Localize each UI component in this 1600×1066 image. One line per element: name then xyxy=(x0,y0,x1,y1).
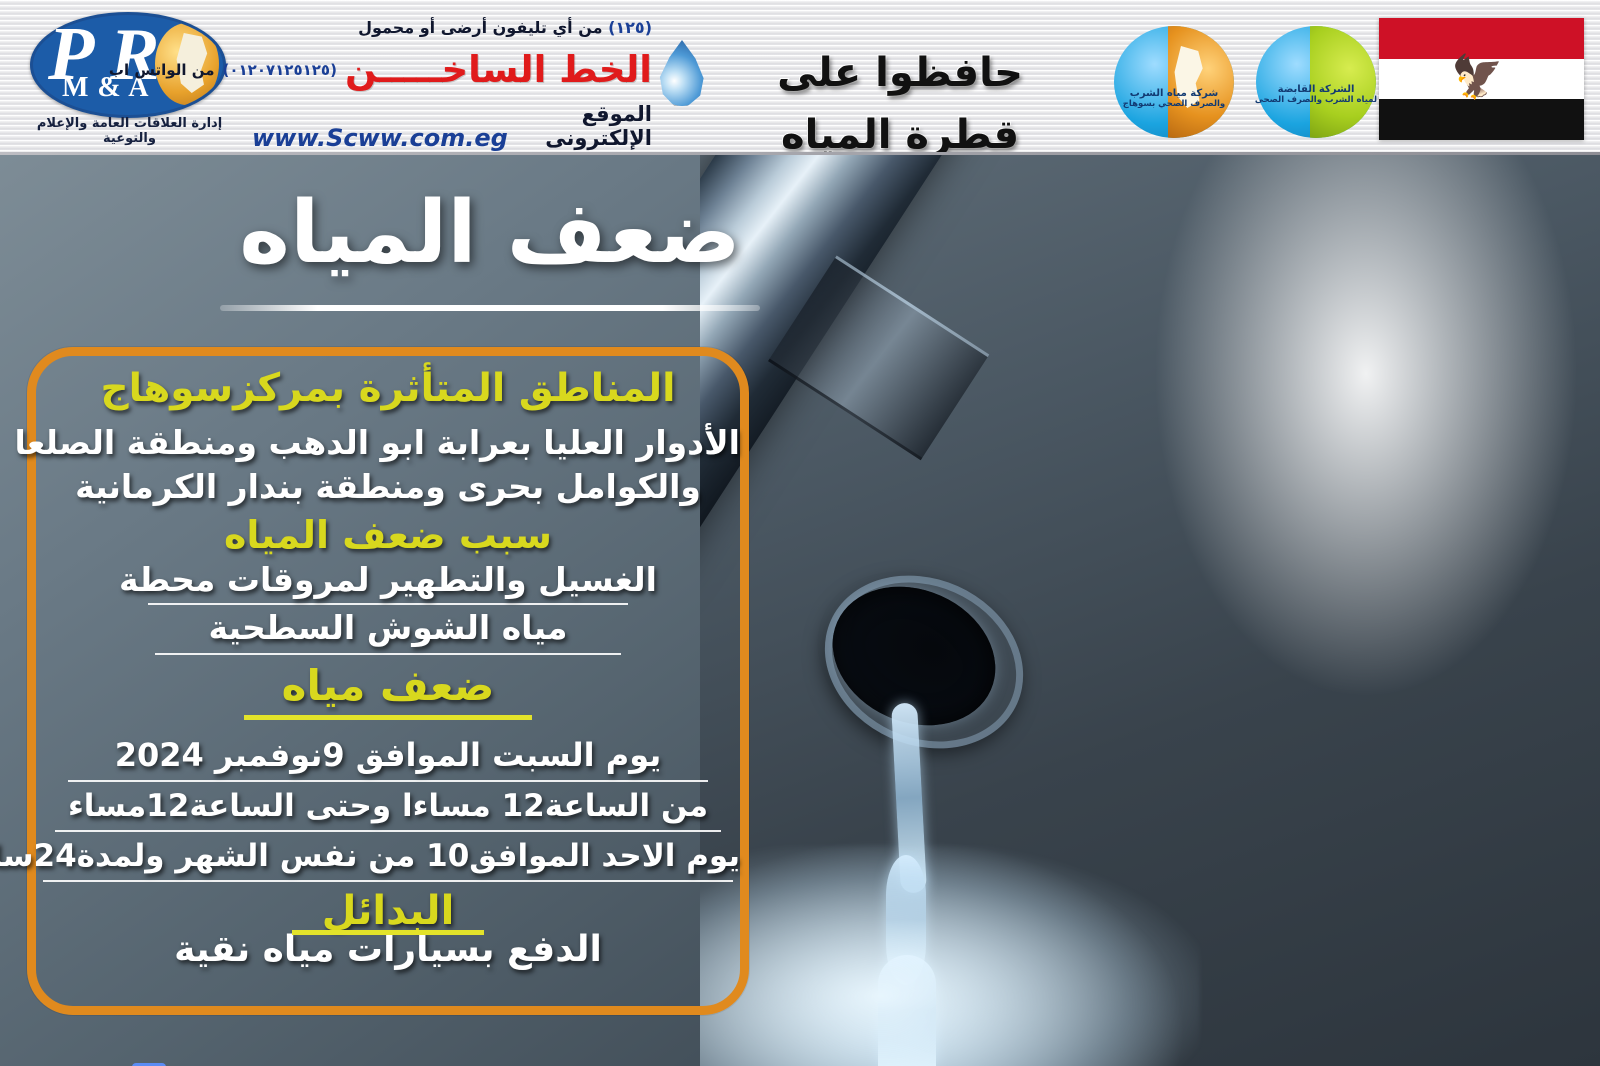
hotline-info-block: (١٢٥) من أي تليفون أرضى أو محمول الخط ال… xyxy=(252,14,652,142)
holding-logo-globe xyxy=(1256,26,1376,138)
hotline-landline-label: من أي تليفون أرضى أو محمول xyxy=(358,18,602,37)
schedule-line-3: يوم الاحد الموافق10 من نفس الشهر ولمدة24… xyxy=(36,834,740,878)
title-underline-divider xyxy=(220,305,760,311)
divider-1 xyxy=(148,603,628,605)
hotline-whatsapp-label: من الواتس اب xyxy=(109,61,215,79)
affected-areas-line-1: الأدوار العليا بعرابة ابو الدهب ومنطقة ا… xyxy=(36,421,740,465)
eagle-of-saladin-icon: 🦅 xyxy=(1460,56,1504,102)
egypt-flag-icon: 🦅 xyxy=(1379,18,1584,140)
holding-company-logo: الشركة القابضة لمياه الشرب والصرف الصحى xyxy=(1250,22,1382,140)
hotline-title-label: الخط الساخـــــن xyxy=(345,50,652,90)
info-panel-content: المناطق المتأثرة بمركزسوهاج الأدوار العل… xyxy=(36,361,740,1021)
page-title: ضعف المياه xyxy=(140,173,840,293)
divider-3 xyxy=(68,780,708,782)
reason-line-2: مياه الشوش السطحية xyxy=(36,607,740,649)
hotline-whatsapp-number: (٠١٢٠٧١٢٥١٢٥) xyxy=(223,61,337,79)
schedule-line-1: يوم السبت الموافق 9نوفمبر 2024 xyxy=(36,732,740,778)
sohag-logo-caption-line2: والصرف الصحي بسوهاج xyxy=(1108,99,1240,110)
hotline-whatsapp-row: الخط الساخـــــن (٠١٢٠٧١٢٥١٢٥) من الواتس… xyxy=(109,50,652,90)
website-url-link[interactable]: www.Scww.com.eg xyxy=(252,124,508,152)
water-weakness-label: ضعف مياه xyxy=(36,659,740,713)
holding-logo-green-half xyxy=(1310,26,1376,138)
affected-areas-line-2: والكوامل بحرى ومنطقة بندار الكرمانية xyxy=(36,465,740,509)
sohag-water-company-logo: شركة مياه الشرب والصرف الصحي بسوهاج xyxy=(1108,22,1240,140)
reason-heading: سبب ضعف المياه xyxy=(36,511,740,559)
poster-body: ضعف المياه المناطق المتأثرة بمركزسوهاج ا… xyxy=(0,155,1600,1066)
divider-yellow-1 xyxy=(244,715,532,720)
conservation-slogan-text: حافظوا على قطرة المياه xyxy=(720,42,1080,166)
water-droplet-icon xyxy=(658,40,706,106)
hotline-landline-row: (١٢٥) من أي تليفون أرضى أو محمول xyxy=(358,18,652,37)
flag-stripe-black xyxy=(1379,99,1584,140)
holding-logo-caption-line2: لمياه الشرب والصرف الصحى xyxy=(1250,95,1382,106)
schedule-line-2: من الساعة12 مساءا وحتى الساعة12مساء xyxy=(36,784,740,828)
affected-areas-heading: المناطق المتأثرة بمركزسوهاج xyxy=(36,363,740,415)
sohag-logo-caption-line1: شركة مياه الشرب xyxy=(1108,88,1240,99)
reason-line-1: الغسيل والتطهير لمروقات محطة xyxy=(36,559,740,601)
sohag-logo-caption: شركة مياه الشرب والصرف الصحي بسوهاج xyxy=(1108,88,1240,110)
holding-logo-caption-line1: الشركة القابضة xyxy=(1250,84,1382,95)
pr-department-caption: إدارة العلاقات العامة والإعلام والتوعية xyxy=(22,116,237,146)
divider-5 xyxy=(43,880,733,882)
holding-logo-caption: الشركة القابضة لمياه الشرب والصرف الصحى xyxy=(1250,84,1382,106)
bottom-light-glow xyxy=(700,846,1200,1066)
conservation-slogan-block: حافظوا على قطرة المياه xyxy=(660,38,1080,118)
divider-yellow-2 xyxy=(292,930,484,935)
hotline-number-125: (١٢٥) xyxy=(608,18,652,37)
company-header-bar: P R M & A إدارة العلاقات العامة والإعلام… xyxy=(0,0,1600,155)
sohag-logo-globe xyxy=(1114,26,1234,138)
divider-4 xyxy=(55,830,721,832)
divider-2 xyxy=(155,653,621,655)
water-tanker-truck-icon: WATER xyxy=(40,1045,272,1066)
